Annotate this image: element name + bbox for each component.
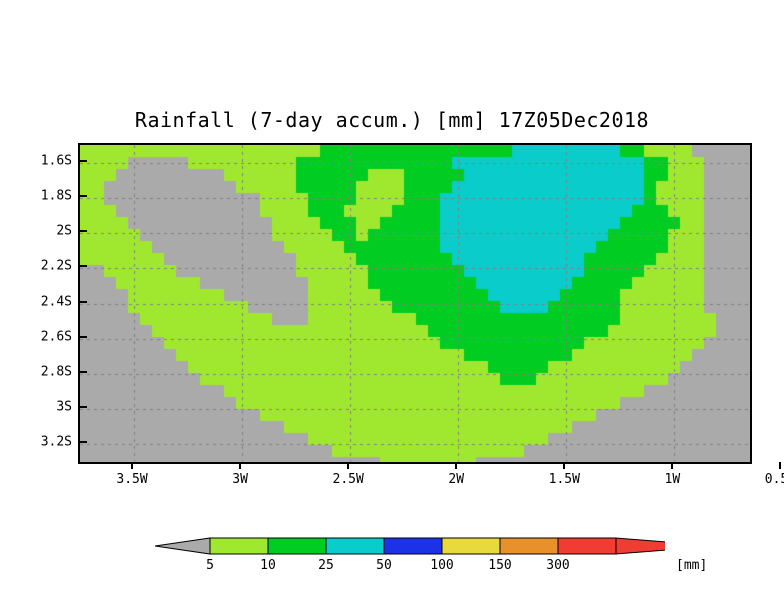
colorbar-tick-label: 150 <box>488 558 511 573</box>
colorbar-tick-label: 25 <box>318 558 334 573</box>
chart-page: Rainfall (7-day accum.) [mm] 17Z05Dec201… <box>0 0 784 612</box>
colorbar-band <box>210 538 268 554</box>
colorbar-tick-label: 50 <box>376 558 392 573</box>
colorbar-swatches <box>155 534 665 558</box>
x-axis-ticks <box>78 462 752 472</box>
y-tick-mark <box>80 301 87 303</box>
colorbar-band <box>326 538 384 554</box>
y-tick-mark <box>80 160 87 162</box>
colorbar-extend-low <box>155 538 210 554</box>
x-tick-label: 3.5W <box>116 472 147 487</box>
colorbar-extend-high <box>616 538 665 554</box>
x-tick-mark <box>671 462 673 469</box>
colorbar-band <box>268 538 326 554</box>
x-tick-mark <box>131 462 133 469</box>
y-tick-mark <box>80 441 87 443</box>
x-tick-mark <box>455 462 457 469</box>
y-tick-mark <box>80 230 87 232</box>
x-tick-mark <box>347 462 349 469</box>
colorbar: [mm] 5102550100150300 <box>155 534 665 580</box>
y-axis-labels: 1.6S1.8S2S2.2S2.4S2.6S2.8S3S3.2S <box>0 143 72 464</box>
y-tick-label: 2S <box>56 224 72 239</box>
y-tick-label: 3S <box>56 400 72 415</box>
plot-area <box>78 143 752 464</box>
x-tick-mark <box>563 462 565 469</box>
chart-title: Rainfall (7-day accum.) [mm] 17Z05Dec201… <box>0 108 784 132</box>
colorbar-tick-label: 100 <box>430 558 453 573</box>
y-tick-label: 3.2S <box>41 435 72 450</box>
colorbar-band <box>558 538 616 554</box>
y-tick-label: 2.6S <box>41 329 72 344</box>
colorbar-band <box>384 538 442 554</box>
x-tick-label: 1W <box>665 472 681 487</box>
y-tick-label: 2.2S <box>41 259 72 274</box>
y-tick-label: 2.8S <box>41 364 72 379</box>
y-tick-mark <box>80 265 87 267</box>
y-tick-label: 2.4S <box>41 294 72 309</box>
rainfall-raster <box>80 145 750 462</box>
y-axis-ticks <box>80 143 90 464</box>
colorbar-units-label: [mm] <box>676 558 707 573</box>
x-tick-mark <box>239 462 241 469</box>
colorbar-tick-label: 300 <box>546 558 569 573</box>
x-tick-label: 2.5W <box>333 472 364 487</box>
y-tick-mark <box>80 336 87 338</box>
colorbar-band <box>442 538 500 554</box>
y-tick-mark <box>80 406 87 408</box>
y-tick-mark <box>80 371 87 373</box>
x-tick-mark <box>779 462 781 469</box>
colorbar-tick-label: 5 <box>206 558 214 573</box>
x-tick-label: 0.5W <box>765 472 784 487</box>
y-tick-label: 1.6S <box>41 153 72 168</box>
x-tick-label: 1.5W <box>549 472 580 487</box>
x-tick-label: 2W <box>448 472 464 487</box>
y-tick-label: 1.8S <box>41 188 72 203</box>
y-tick-mark <box>80 195 87 197</box>
colorbar-band <box>500 538 558 554</box>
x-tick-label: 3W <box>232 472 248 487</box>
colorbar-tick-label: 10 <box>260 558 276 573</box>
x-axis-labels: 3.5W3W2.5W2W1.5W1W0.5W00.5E <box>0 472 784 492</box>
